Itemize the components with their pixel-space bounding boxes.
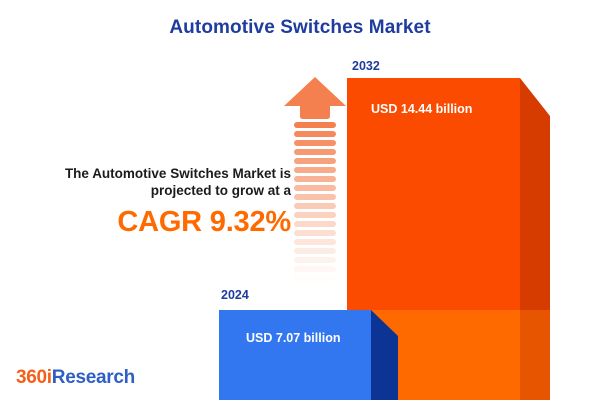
arrow-gradient-bar: [294, 221, 336, 227]
logo-text-primary: 360i: [16, 367, 52, 388]
arrow-gradient-bar: [294, 203, 336, 209]
year-label-2032: 2032: [352, 59, 380, 73]
growth-arrow-graphic: [283, 76, 347, 300]
arrow-gradient-bar: [294, 239, 336, 245]
arrow-gradient-bar: [294, 230, 336, 236]
bar-2024: USD 7.07 billion: [219, 310, 371, 400]
caption-block: The Automotive Switches Market is projec…: [16, 165, 291, 238]
arrow-gradient-bar: [294, 284, 336, 290]
infographic-canvas: Automotive Switches Market The Automotiv…: [0, 0, 600, 400]
year-label-2024: 2024: [221, 288, 249, 302]
arrow-gradient-bar: [294, 149, 336, 155]
caption-line-1: The Automotive Switches Market is: [16, 165, 291, 182]
arrow-gradient-bar: [294, 275, 336, 281]
bar-2032-side-lower: [520, 310, 550, 400]
arrow-gradient-bar: [294, 140, 336, 146]
arrow-gradient-bar: [294, 131, 336, 137]
page-title: Automotive Switches Market: [0, 17, 600, 39]
bar-2024-front-face: [219, 310, 371, 400]
arrow-gradient-bar: [294, 194, 336, 200]
arrow-gradient-bar: [294, 185, 336, 191]
arrow-gradient-bar: [294, 158, 336, 164]
arrow-gradient-bar: [294, 248, 336, 254]
bar-2032-side-face: [520, 78, 550, 400]
brand-logo: 360iResearch: [16, 367, 135, 389]
arrow-gradient-bars: [294, 122, 336, 293]
arrow-gradient-bar: [294, 266, 336, 272]
up-arrow-icon: [283, 76, 347, 120]
cagr-value: CAGR 9.32%: [16, 206, 291, 238]
caption-line-2: projected to grow at a: [16, 182, 291, 199]
arrow-gradient-bar: [294, 167, 336, 173]
bar-2024-value-label: USD 7.07 billion: [246, 331, 340, 345]
logo-text-secondary: Research: [52, 367, 135, 388]
arrow-gradient-bar: [294, 257, 336, 263]
arrow-gradient-bar: [294, 122, 336, 128]
bar-2032-side-upper: [520, 78, 550, 310]
arrow-gradient-bar: [294, 176, 336, 182]
arrow-gradient-bar: [294, 212, 336, 218]
bar-2032-value-label: USD 14.44 billion: [371, 102, 472, 116]
